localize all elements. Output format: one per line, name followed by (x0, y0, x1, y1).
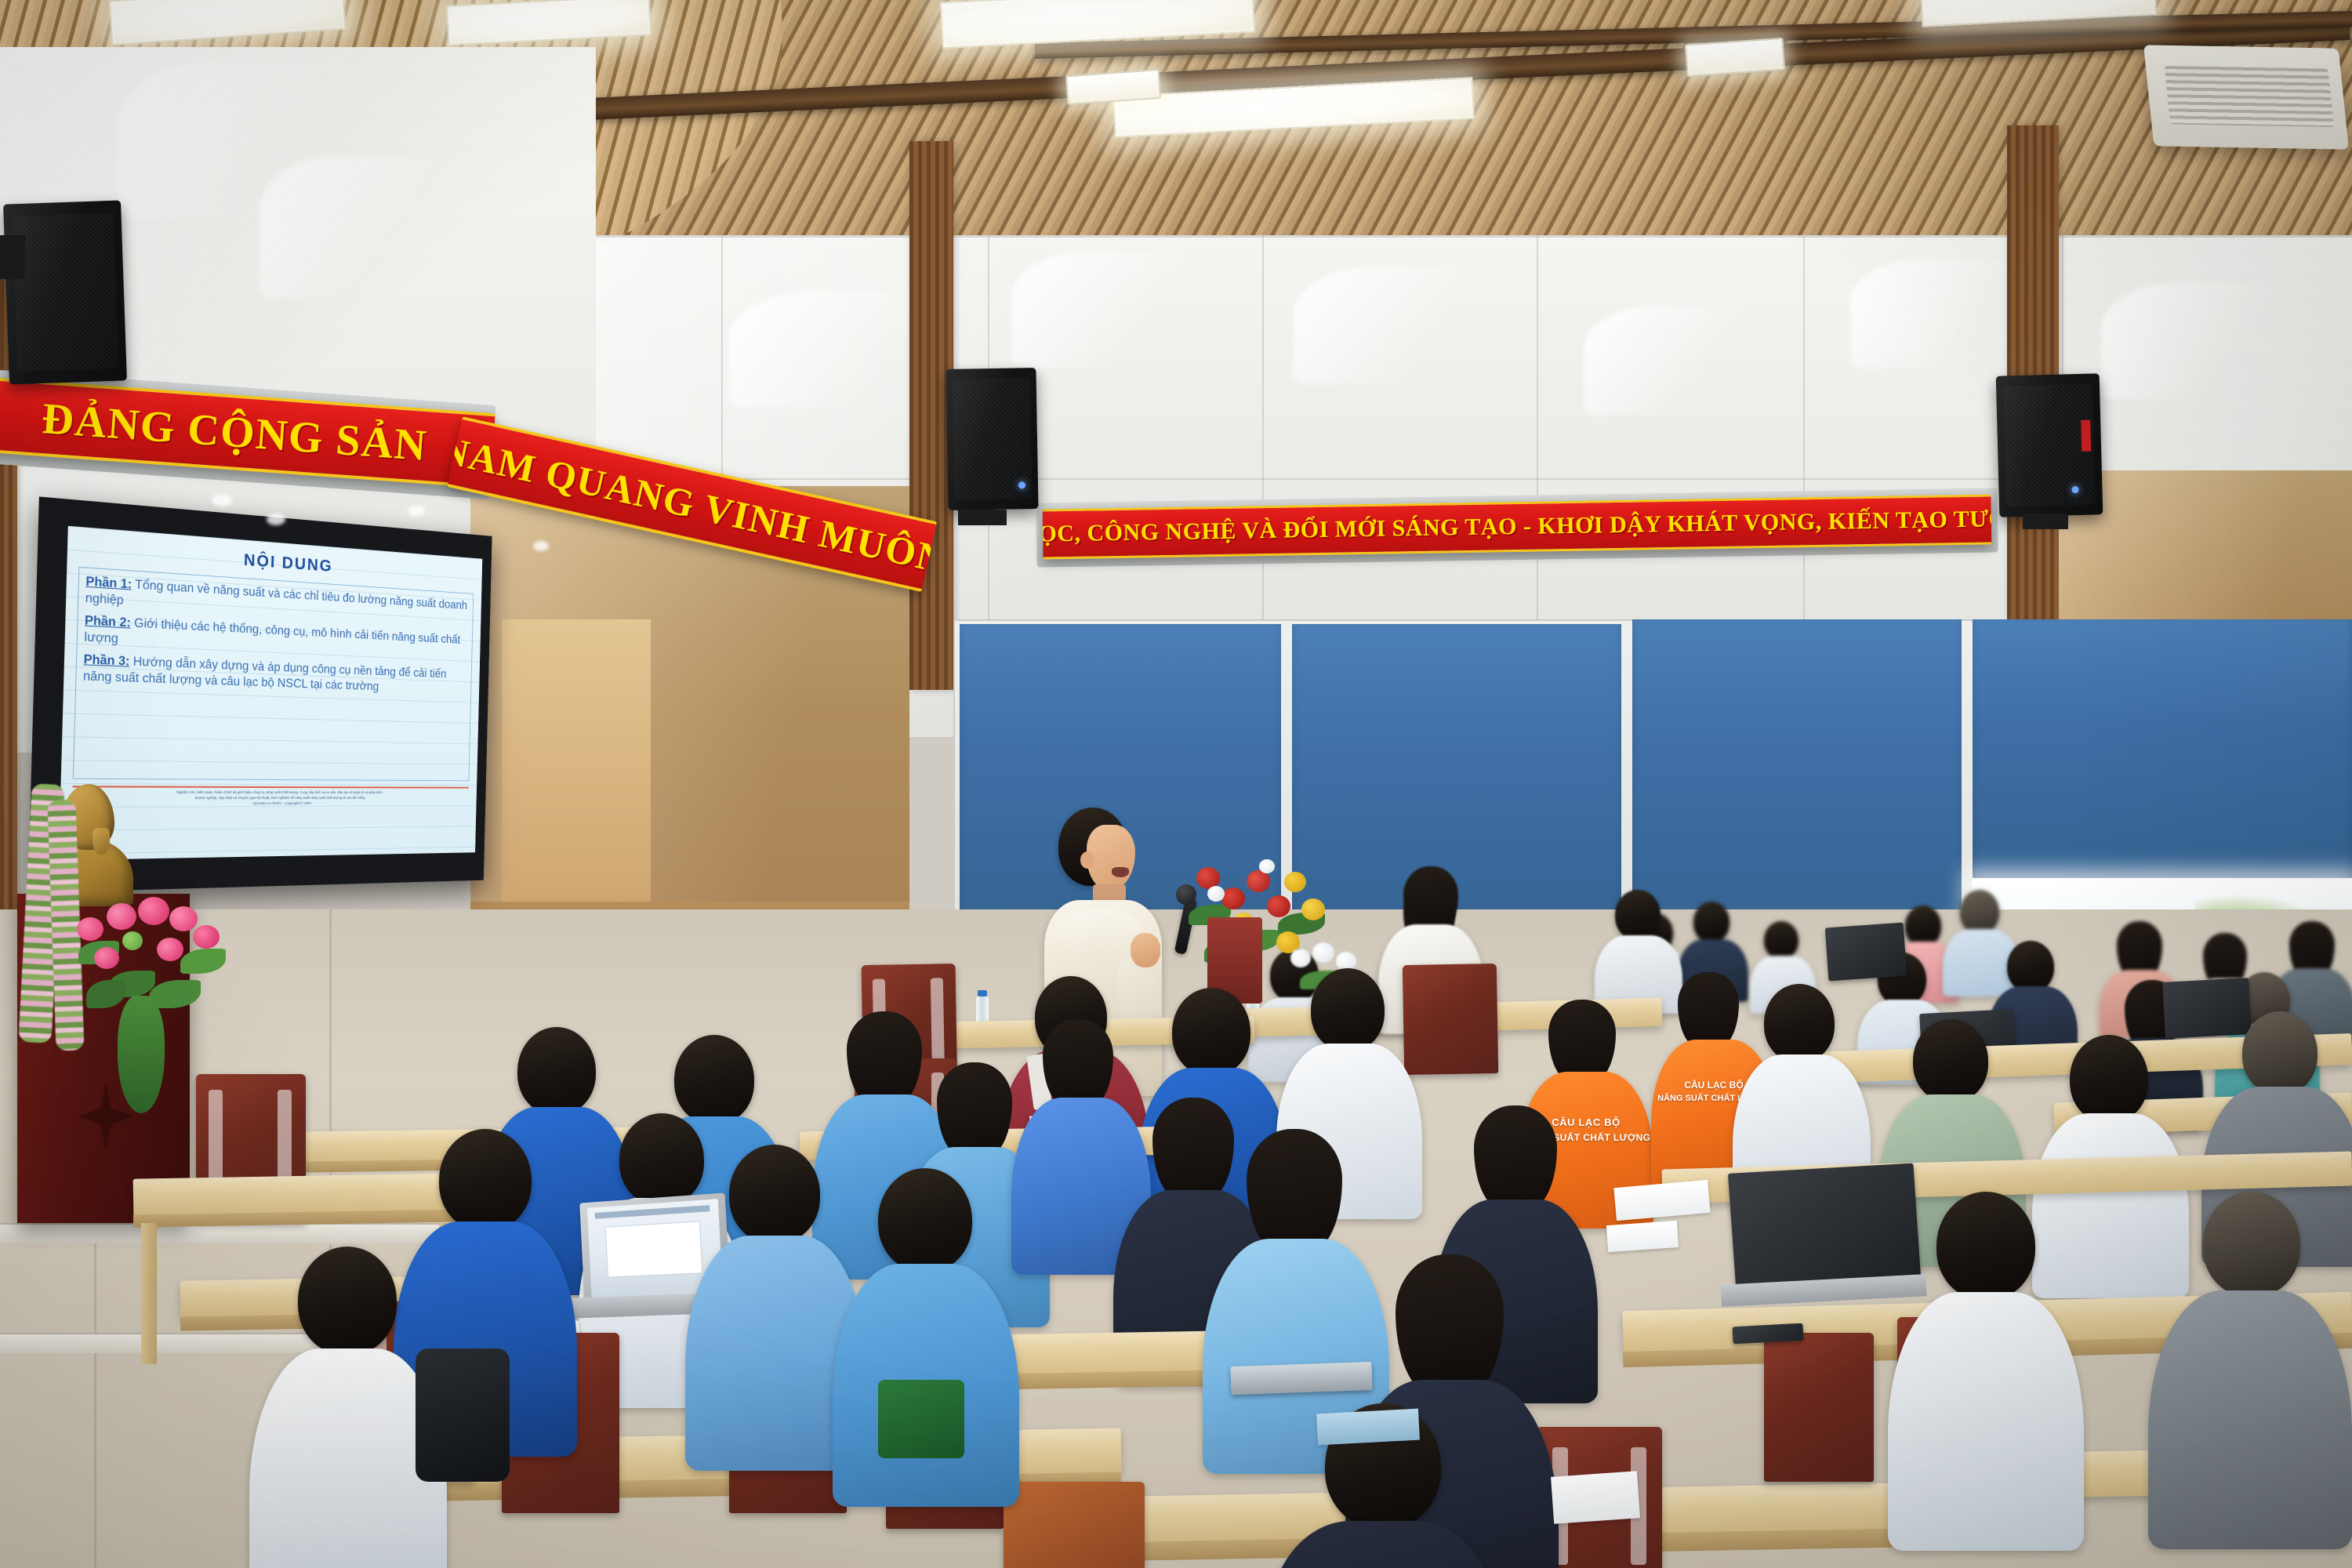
recessed-downlight (533, 541, 549, 551)
speaker-brand-label (2081, 420, 2091, 452)
paper-document (1606, 1221, 1679, 1252)
backpack (416, 1348, 510, 1482)
speaker-grille-icon (12, 213, 118, 372)
slide-footer-line1: Nghiên cứu, biên soạn, hoàn chỉnh và giớ… (72, 790, 469, 796)
speaker-bracket (2023, 514, 2068, 529)
ac-grille-icon (2165, 66, 2335, 127)
laptop-closed[interactable] (1230, 1362, 1372, 1395)
banner-right-text: KHOA HỌC, CÔNG NGHỆ VÀ ĐỔI MỚI SÁNG TẠO … (1043, 504, 1992, 549)
tote-bag (878, 1380, 964, 1458)
slide-divider (72, 786, 469, 788)
conference-hall-photo: ĐẢNG CỘNG SẢN VIỆT NAM QUANG VINH MUÔN N… (0, 0, 2352, 1568)
ceiling-downlight (1685, 38, 1786, 78)
slide-bullet-label: Phần 3: (83, 652, 129, 668)
recessed-downlight (408, 506, 425, 517)
chair (1764, 1333, 1874, 1482)
chair (1004, 1482, 1145, 1568)
floor-riser-step (0, 1333, 337, 1353)
ceiling-ac-cassette (2143, 45, 2349, 149)
pa-speaker-left (3, 200, 127, 384)
laptop[interactable] (1728, 1163, 1921, 1294)
notebook (1316, 1409, 1420, 1446)
slide-footer: Nghiên cứu, biên soạn, hoàn chỉnh và giớ… (72, 790, 469, 808)
speaker-bracket (0, 235, 25, 279)
pa-speaker-center (946, 368, 1038, 510)
laptop[interactable] (2162, 978, 2252, 1039)
slide-bullet-text: Tổng quan về năng suất và các chỉ tiêu đ… (85, 578, 468, 612)
projected-slide: NỘI DUNG Phần 1: Tổng quan về năng suất … (59, 526, 483, 861)
recessed-downlight (267, 514, 285, 525)
window-blind[interactable] (1973, 619, 2352, 878)
bust-beard (93, 828, 110, 855)
phone-or-remote[interactable] (1732, 1323, 1803, 1345)
slide-footer-line3: QUANG-LA-TechC - Copyright © VNPI (72, 800, 469, 807)
trailing-foliage (118, 996, 165, 1113)
pa-speaker-right (1996, 373, 2103, 517)
chair (1403, 964, 1498, 1075)
window-blind[interactable] (1632, 619, 1962, 933)
slide-content-box: Phần 1: Tổng quan về năng suất và các ch… (73, 567, 474, 781)
desk-leg (141, 1223, 157, 1364)
speaker-bracket (958, 510, 1007, 525)
banner-left-text: ĐẢNG CỘNG SẢN (40, 394, 429, 471)
recessed-downlight (212, 494, 232, 506)
bottle-cap (978, 990, 987, 996)
slide-bullet-label: Phần 2: (85, 614, 131, 630)
slide-bullet-label: Phần 1: (85, 575, 132, 592)
laptop[interactable] (1825, 923, 1907, 982)
floor-riser-step (0, 1223, 439, 1243)
paper-document (1551, 1471, 1640, 1524)
